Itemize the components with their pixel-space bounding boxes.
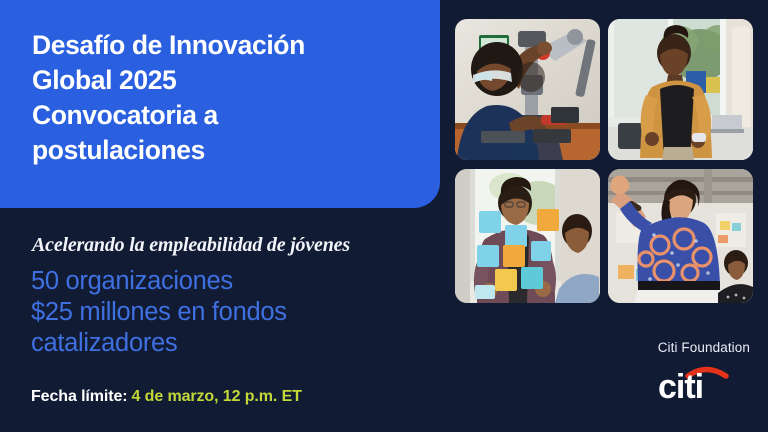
citi-logo: citi	[658, 364, 750, 402]
brand-lockup: Citi Foundation citi	[658, 340, 750, 402]
stat-line-funding: $25 millones en fondos	[31, 297, 431, 328]
photo-grid	[455, 19, 753, 309]
deadline-label: Fecha límite:	[31, 388, 128, 405]
stat-line-organizations: 50 organizaciones	[31, 266, 431, 297]
stat-line-funding-cont: catalizadores	[31, 328, 431, 359]
svg-text:citi: citi	[658, 368, 703, 402]
page-title: Desafío de Innovación Global 2025 Convoc…	[32, 28, 410, 168]
photo-woman-presenting-wall	[608, 169, 753, 303]
deadline-text: Fecha límite:4 de marzo, 12 p.m. ET	[31, 388, 302, 406]
deadline-value: 4 de marzo, 12 p.m. ET	[132, 388, 302, 405]
photo-sticky-note-workshop	[455, 169, 600, 303]
brand-name: Citi Foundation	[658, 340, 750, 355]
subheadline: Acelerando la empleabilidad de jóvenes	[32, 234, 350, 257]
poster-canvas: Desafío de Innovación Global 2025 Convoc…	[0, 0, 768, 432]
photo-presenter-speaking	[608, 19, 753, 160]
stats-list: 50 organizaciones $25 millones en fondos…	[31, 266, 431, 359]
photo-student-machining	[455, 19, 600, 160]
headline-card: Desafío de Innovación Global 2025 Convoc…	[0, 0, 440, 208]
